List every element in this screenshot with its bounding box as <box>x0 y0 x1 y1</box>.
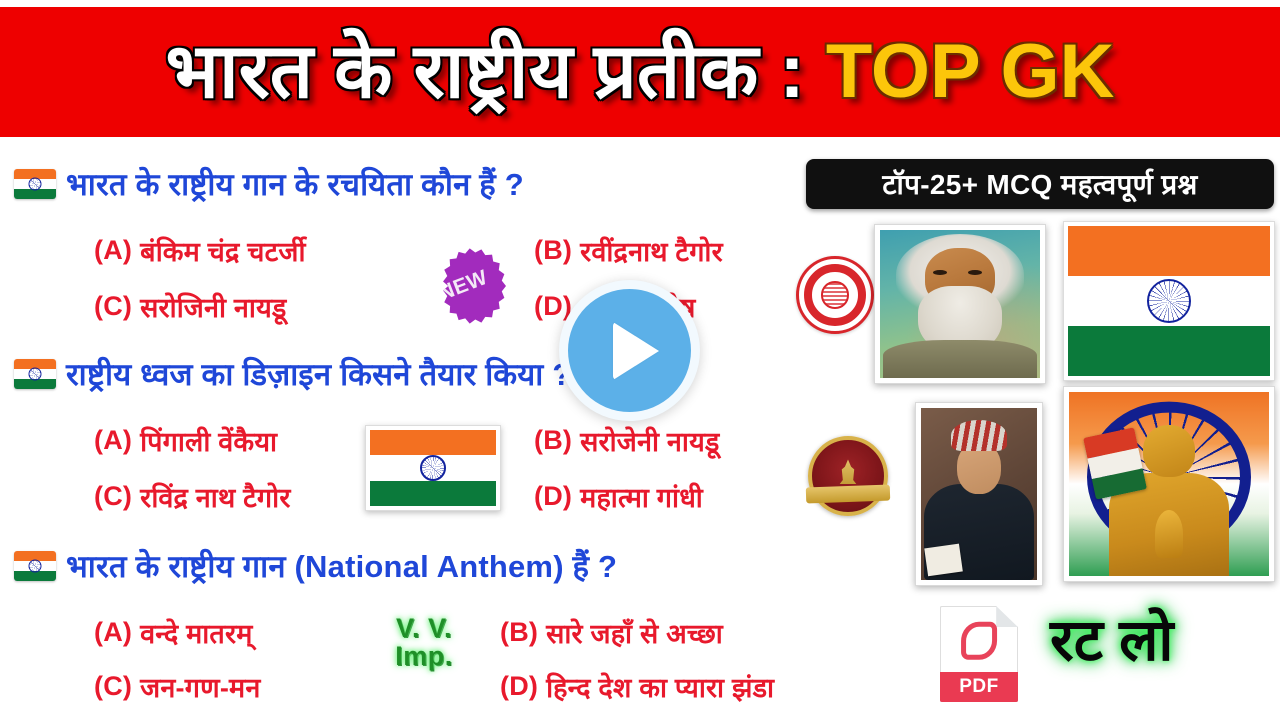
mcq-count-badge-label: टॉप-25+ MCQ महत्वपूर्ण प्रश्न <box>882 165 1197 203</box>
adobe-swirl-icon <box>961 621 997 659</box>
title-hindi-text: भारत के राष्ट्रीय प्रतीक : <box>166 29 826 114</box>
indian-flag-waving-icon <box>14 551 56 581</box>
ashoka-chakra-icon <box>1147 279 1191 323</box>
question-1-option-a[interactable]: (A) बंकिम चंद्र चटर्जी <box>94 232 306 269</box>
bankim-photo-inner <box>921 408 1037 580</box>
pingali-venkayya-statue-photo <box>1063 386 1275 582</box>
pdf-label: PDF <box>959 676 999 698</box>
question-3-option-d[interactable]: (D) हिन्द देश का प्यारा झंडा <box>500 668 774 705</box>
vv-line-2: Imp. <box>382 643 466 671</box>
option-b-text: रवींद्रनाथ टैगोर <box>580 232 723 269</box>
option-b-text: सरोजेनी नायडू <box>580 422 719 459</box>
question-2-option-a[interactable]: (A) पिंगाली वेंकैया <box>94 422 277 459</box>
option-b-text: सारे जहाँ से अच्छा <box>546 614 723 651</box>
mcq-count-badge: टॉप-25+ MCQ महत्वपूर्ण प्रश्न <box>806 159 1274 209</box>
question-3-option-a[interactable]: (A) वन्दे मातरम् <box>94 614 253 651</box>
staff-selection-commission-logo <box>808 436 888 516</box>
play-button[interactable] <box>559 280 700 421</box>
question-1-option-c[interactable]: (C) सरोजिनी नायडू <box>94 288 287 325</box>
rabindranath-tagore-portrait <box>874 224 1046 384</box>
question-3-option-b[interactable]: (B) सारे जहाँ से अच्छा <box>500 614 723 651</box>
indian-flag-waving-icon <box>14 359 56 389</box>
indian-railways-logo-ring <box>804 264 866 326</box>
indian-flag-waving-icon <box>14 169 56 199</box>
tagore-photo-inner <box>880 230 1040 378</box>
option-b-key: (B) <box>500 617 538 648</box>
vv-line-1: V. V. <box>382 615 466 643</box>
question-1-text: भारत के राष्ट्रीय गान के रचयिता कौन हैं … <box>66 163 524 205</box>
question-2-block: राष्ट्रीय ध्वज का डिज़ाइन किसने तैयार कि… <box>14 353 571 395</box>
title-banner: भारत के राष्ट्रीय प्रतीक : TOP GK <box>0 7 1280 137</box>
pdf-file-icon[interactable]: PDF <box>940 606 1018 702</box>
very-very-important-badge: V. V. Imp. <box>382 615 466 670</box>
option-a-text: वन्दे मातरम् <box>140 614 253 651</box>
question-1-block: भारत के राष्ट्रीय गान के रचयिता कौन हैं … <box>14 163 524 205</box>
title-english-text: TOP GK <box>826 29 1115 114</box>
option-a-key: (A) <box>94 235 132 266</box>
option-c-key: (C) <box>94 291 132 322</box>
option-c-text: सरोजिनी नायडू <box>140 288 286 325</box>
indian-railways-logo <box>796 256 874 334</box>
indian-railways-logo-core <box>821 281 849 309</box>
question-2-option-b[interactable]: (B) सरोजेनी नायडू <box>534 422 720 459</box>
play-triangle-icon <box>613 322 659 380</box>
pdf-label-tag: PDF <box>940 672 1018 702</box>
pdf-page-fold <box>996 606 1018 627</box>
indian-national-flag-photo <box>1063 221 1275 381</box>
page-title: भारत के राष्ट्रीय प्रतीक : TOP GK <box>166 34 1115 110</box>
statue-photo-inner <box>1069 392 1269 576</box>
question-3-option-c[interactable]: (C) जन-गण-मन <box>94 668 261 705</box>
new-badge: NEW <box>420 243 506 329</box>
option-d-text: महात्मा गांधी <box>580 478 703 515</box>
option-b-key: (B) <box>534 235 572 266</box>
option-c-key: (C) <box>94 671 132 702</box>
question-3-block: भारत के राष्ट्रीय गान (National Anthem) … <box>14 545 617 587</box>
question-2-option-d[interactable]: (D) महात्मा गांधी <box>534 478 703 515</box>
option-c-text: जन-गण-मन <box>140 668 260 705</box>
option-c-key: (C) <box>94 481 132 512</box>
question-2-text: राष्ट्रीय ध्वज का डिज़ाइन किसने तैयार कि… <box>66 353 571 395</box>
option-a-key: (A) <box>94 425 132 456</box>
ratlo-text: रट लो <box>1050 612 1173 670</box>
bankim-chandra-chatterjee-portrait <box>915 402 1043 586</box>
flag-bands <box>1068 226 1270 376</box>
question-1-option-b[interactable]: (B) रवींद्रनाथ टैगोर <box>534 232 723 269</box>
option-b-key: (B) <box>534 425 572 456</box>
indian-flag-inline-photo-q2 <box>365 425 501 511</box>
option-d-key: (D) <box>500 671 538 702</box>
option-a-text: पिंगाली वेंकैया <box>140 422 277 459</box>
flag-bands <box>370 430 496 506</box>
ashoka-chakra-icon <box>420 455 446 481</box>
video-thumbnail-canvas: भारत के राष्ट्रीय प्रतीक : TOP GK टॉप-25… <box>0 0 1280 720</box>
option-d-key: (D) <box>534 481 572 512</box>
question-3-heading: भारत के राष्ट्रीय गान (National Anthem) … <box>14 545 617 587</box>
new-badge-label: NEW <box>435 266 491 307</box>
option-d-text: हिन्द देश का प्यारा झंडा <box>546 668 774 705</box>
question-3-text: भारत के राष्ट्रीय गान (National Anthem) … <box>66 545 617 587</box>
question-2-option-c[interactable]: (C) रविंद्र नाथ टैगोर <box>94 478 291 515</box>
question-1-heading: भारत के राष्ट्रीय गान के रचयिता कौन हैं … <box>14 163 524 205</box>
option-a-key: (A) <box>94 617 132 648</box>
ssc-logo-ribbon <box>806 485 890 504</box>
question-2-heading: राष्ट्रीय ध्वज का डिज़ाइन किसने तैयार कि… <box>14 353 571 395</box>
option-c-text: रविंद्र नाथ टैगोर <box>140 478 290 515</box>
option-a-text: बंकिम चंद्र चटर्जी <box>140 232 306 269</box>
